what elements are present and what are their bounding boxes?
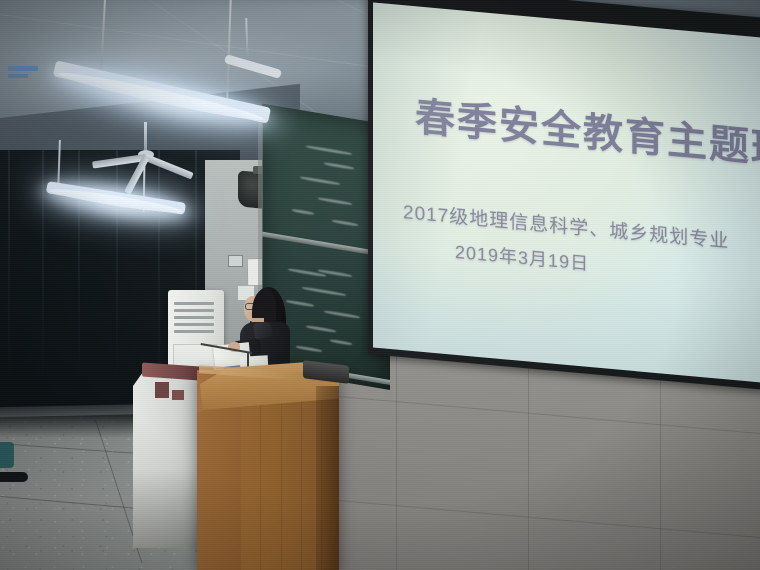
presenter-collar bbox=[253, 321, 273, 339]
screen-vignette bbox=[373, 2, 760, 382]
podium-edge-shadow bbox=[316, 386, 339, 570]
podium-side-facet bbox=[197, 392, 241, 570]
floor-object bbox=[0, 442, 14, 468]
projection-screen: 春季安全教育主题班会 2017级地理信息科学、城乡规划专业 2019年3月19日 bbox=[368, 0, 760, 418]
ac-brand-label bbox=[8, 74, 28, 78]
classroom-photo: 春季安全教育主题班会 2017级地理信息科学、城乡规划专业 2019年3月19日 bbox=[0, 0, 760, 570]
ac-brand-label bbox=[8, 66, 38, 71]
console-slot bbox=[172, 390, 184, 400]
console-slot bbox=[155, 382, 169, 398]
floor-object bbox=[0, 472, 28, 482]
light-switch-panel[interactable] bbox=[228, 255, 243, 267]
